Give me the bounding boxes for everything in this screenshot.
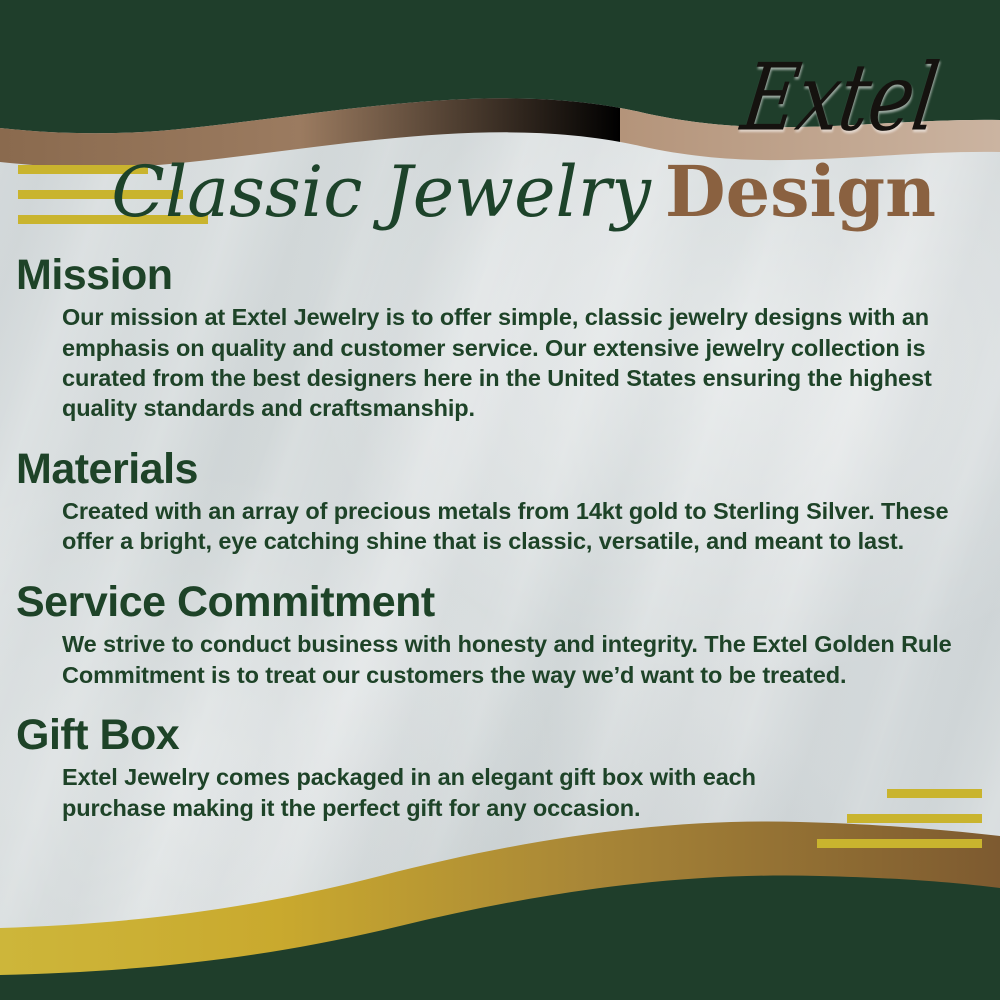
section-heading: Materials xyxy=(16,446,1000,492)
page-title: Classic JewelryDesign xyxy=(111,157,936,227)
content-sections: Mission Our mission at Extel Jewelry is … xyxy=(0,252,1000,845)
section-paragraph: Created with an array of precious metals… xyxy=(62,496,966,557)
headline-primary: Classic Jewelry xyxy=(111,151,651,233)
section-materials: Materials Created with an array of preci… xyxy=(0,446,1000,557)
section-paragraph: Extel Jewelry comes packaged in an elega… xyxy=(62,762,760,823)
headline-secondary: Design xyxy=(665,150,936,233)
section-service-commitment: Service Commitment We strive to conduct … xyxy=(0,579,1000,690)
section-heading: Mission xyxy=(16,252,1000,298)
section-heading: Service Commitment xyxy=(16,579,1000,625)
poster-canvas: Extel Classic JewelryDesign Mission Our … xyxy=(0,0,1000,1000)
section-gift-box: Gift Box Extel Jewelry comes packaged in… xyxy=(0,712,1000,823)
section-paragraph: Our mission at Extel Jewelry is to offer… xyxy=(62,302,966,423)
section-mission: Mission Our mission at Extel Jewelry is … xyxy=(0,252,1000,424)
brand-script-logo: Extel xyxy=(737,51,943,144)
section-paragraph: We strive to conduct business with hones… xyxy=(62,629,966,690)
section-heading: Gift Box xyxy=(16,712,1000,758)
